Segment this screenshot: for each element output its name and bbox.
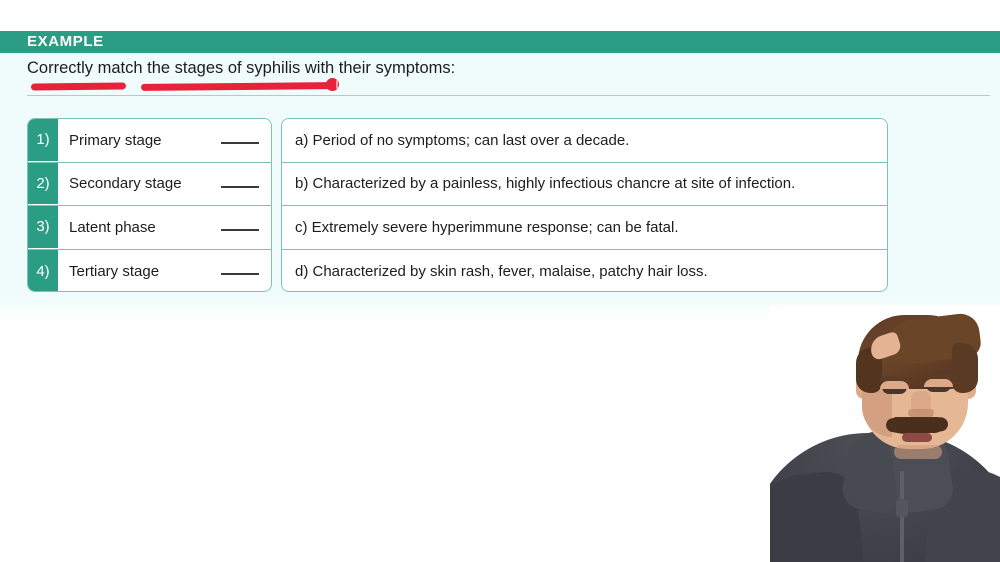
stage-name: Primary stage	[69, 132, 162, 149]
stage-row[interactable]: 2) Secondary stage	[28, 163, 271, 207]
presenter-hair-side-right	[952, 343, 978, 393]
stage-number: 4)	[28, 250, 58, 293]
symptom-text: c) Extremely severe hyperimmune response…	[295, 219, 679, 236]
stage-name: Tertiary stage	[69, 263, 159, 280]
symptom-row[interactable]: d) Characterized by skin rash, fever, ma…	[282, 250, 887, 293]
stage-answer-blank[interactable]	[221, 273, 259, 275]
example-banner-label: EXAMPLE	[27, 31, 104, 53]
stage-row[interactable]: 1) Primary stage	[28, 119, 271, 163]
stage-answer-blank[interactable]	[221, 142, 259, 144]
presenter-chin-shadow	[894, 445, 942, 459]
stage-row[interactable]: 3) Latent phase	[28, 206, 271, 250]
symptom-text: d) Characterized by skin rash, fever, ma…	[295, 263, 708, 280]
symptoms-table: a) Period of no symptoms; can last over …	[281, 118, 888, 292]
section-divider	[27, 95, 990, 96]
presenter-eyelid-left	[880, 381, 909, 389]
example-banner	[0, 31, 1000, 53]
stage-name: Latent phase	[69, 219, 156, 236]
stage-number: 3)	[28, 206, 58, 249]
symptom-row[interactable]: b) Characterized by a painless, highly i…	[282, 163, 887, 207]
stage-body[interactable]: Latent phase	[58, 206, 271, 249]
ink-underline-stroke-1	[31, 82, 126, 90]
stage-answer-blank[interactable]	[221, 186, 259, 188]
stages-table: 1) Primary stage 2) Secondary stage 3) L…	[27, 118, 272, 292]
symptom-text: a) Period of no symptoms; can last over …	[295, 132, 629, 149]
question-prompt: Correctly match the stages of syphilis w…	[27, 59, 455, 78]
presenter-mouth	[902, 433, 932, 442]
stage-answer-blank[interactable]	[221, 229, 259, 231]
presenter-eyelid-right	[924, 379, 953, 387]
stage-number: 1)	[28, 119, 58, 162]
symptom-row[interactable]: a) Period of no symptoms; can last over …	[282, 119, 887, 163]
stage-body[interactable]: Tertiary stage	[58, 250, 271, 293]
stage-name: Secondary stage	[69, 175, 182, 192]
symptom-text: b) Characterized by a painless, highly i…	[295, 175, 795, 192]
stage-body[interactable]: Secondary stage	[58, 163, 271, 206]
symptom-row[interactable]: c) Extremely severe hyperimmune response…	[282, 206, 887, 250]
presenter-nose-shadow	[908, 409, 934, 417]
slide-canvas: EXAMPLE Correctly match the stages of sy…	[0, 0, 1000, 562]
stage-row[interactable]: 4) Tertiary stage	[28, 250, 271, 293]
stage-body[interactable]: Primary stage	[58, 119, 271, 162]
ink-pen-tail	[336, 80, 338, 89]
presenter-video-overlay	[770, 305, 1000, 562]
presenter-zipper-pull	[896, 499, 908, 517]
stage-number: 2)	[28, 163, 58, 206]
